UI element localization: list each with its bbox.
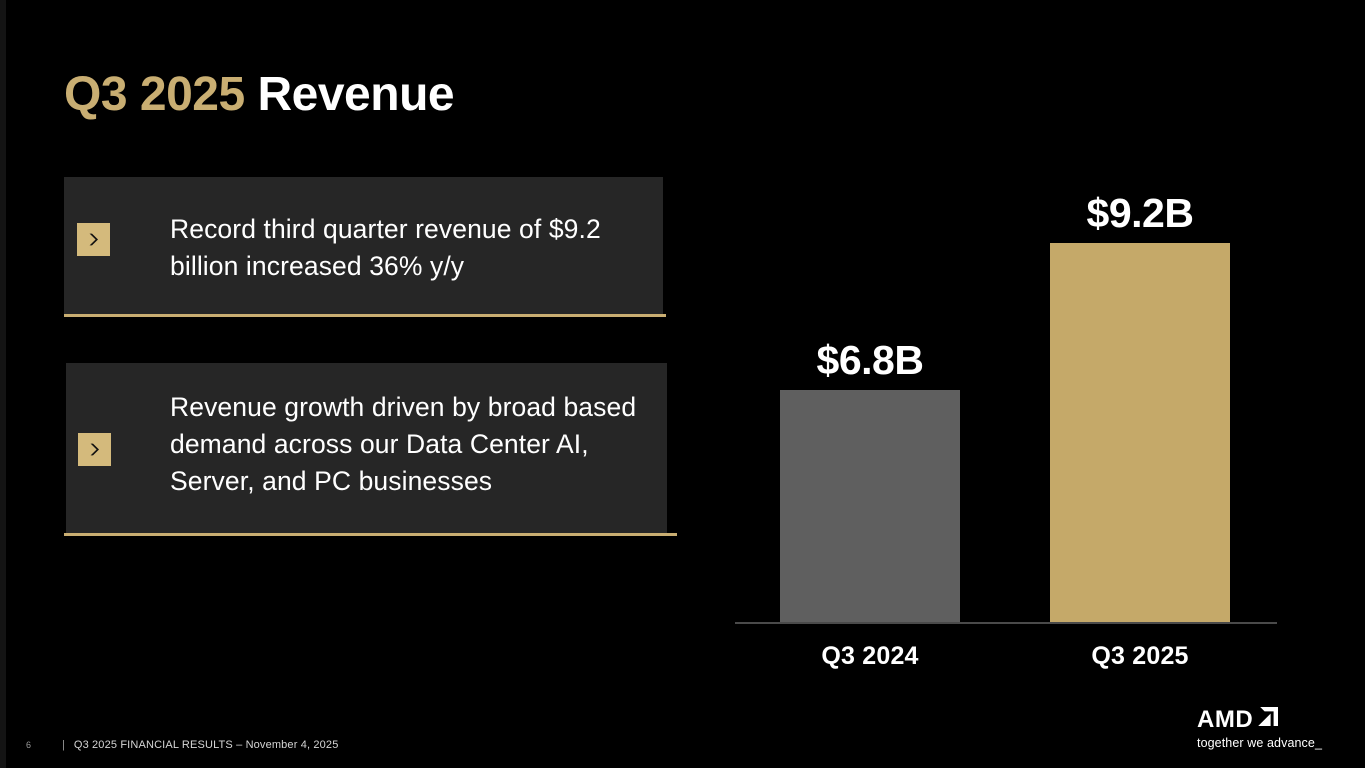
footer-text: Q3 2025 FINANCIAL RESULTS – November 4, … xyxy=(74,739,339,751)
bullet-card-accent-rule xyxy=(64,533,677,536)
slide-edge-strip xyxy=(0,0,6,768)
bullet-text: Revenue growth driven by broad based dem… xyxy=(170,389,670,500)
amd-logo-mark: AMD xyxy=(1197,709,1347,731)
bar-q3-2024 xyxy=(780,390,960,622)
amd-arrow-icon xyxy=(1256,704,1278,731)
footer-page-number: 6 xyxy=(26,740,62,750)
chevron-right-icon xyxy=(78,433,111,466)
revenue-bar-chart: $6.8B Q3 2024 $9.2B Q3 2025 xyxy=(700,150,1320,680)
bar-category-label: Q3 2025 xyxy=(1050,642,1230,671)
slide-canvas: Q3 2025 Revenue Record third quarter rev… xyxy=(0,0,1365,768)
bar-category-label: Q3 2024 xyxy=(780,642,960,671)
bullet-text: Record third quarter revenue of $9.2 bil… xyxy=(170,211,640,285)
bar-value-label: $6.8B xyxy=(780,337,960,384)
chart-axis-line xyxy=(735,622,1277,624)
amd-tagline: together we advance_ xyxy=(1197,736,1347,750)
page-title-plain: Revenue xyxy=(258,68,455,121)
bullet-card-accent-rule xyxy=(64,314,666,317)
bar-value-label: $9.2B xyxy=(1050,190,1230,237)
page-title-accent: Q3 2025 xyxy=(64,68,245,121)
footer-separator: | xyxy=(62,739,65,751)
amd-wordmark: AMD xyxy=(1197,709,1253,731)
bar-q3-2025 xyxy=(1050,243,1230,622)
footer: 6 | Q3 2025 FINANCIAL RESULTS – November… xyxy=(26,739,338,751)
amd-logo: AMD together we advance_ xyxy=(1197,709,1347,750)
page-title: Q3 2025 Revenue xyxy=(64,67,454,122)
chevron-right-icon xyxy=(77,223,110,256)
